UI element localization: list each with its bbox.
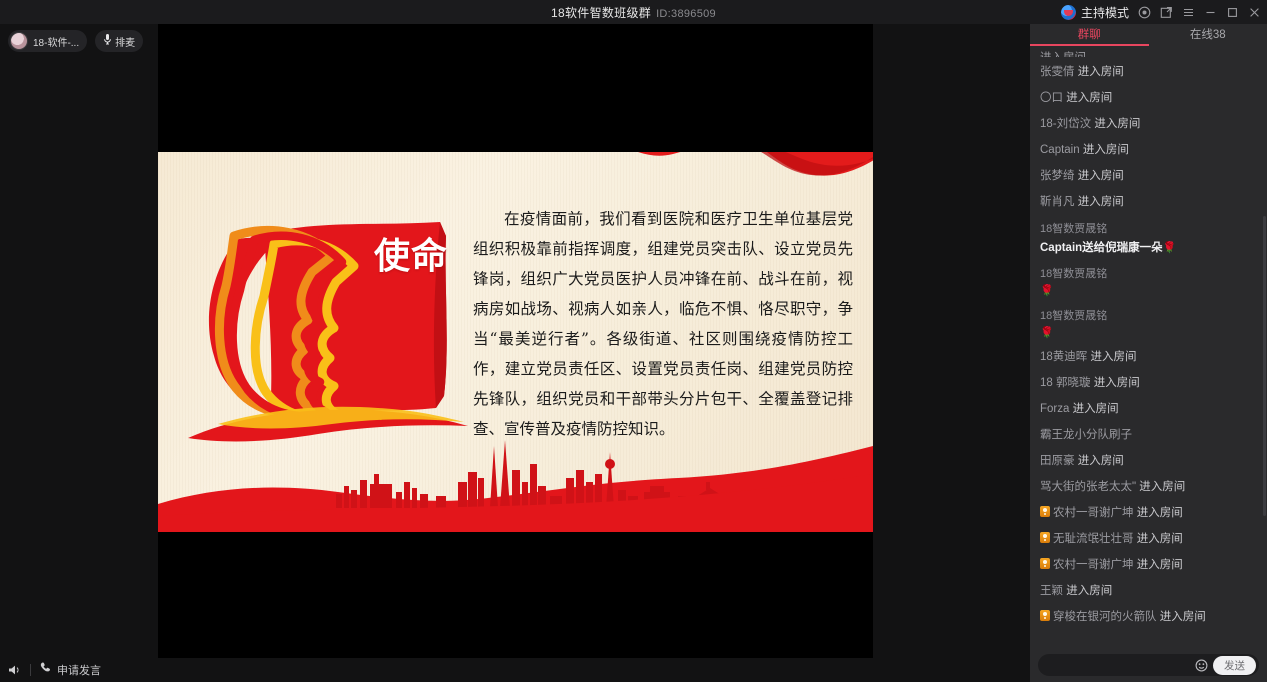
user-level-badge-icon	[1040, 558, 1050, 569]
panel-tabs: 群聊 在线38	[1030, 24, 1267, 46]
left-top-bar: 18-软件-... 排麦	[0, 24, 158, 58]
room-id: ID:3896509	[656, 8, 716, 20]
chat-message-list[interactable]: 进入房间张雯倩 进入房间〇口 进入房间18-刘岱汶 进入房间Captain 进入…	[1030, 46, 1267, 652]
maximize-icon[interactable]	[1226, 6, 1239, 19]
menu-icon[interactable]	[1182, 6, 1195, 19]
rose-icon: 🌹	[1163, 242, 1177, 254]
chat-message: Forza 进入房间	[1040, 401, 1257, 417]
tab-group-chat[interactable]: 群聊	[1030, 24, 1149, 46]
message-sender: 18智数贾晟铭	[1040, 220, 1257, 236]
chat-message: 18 郭晓璇 进入房间	[1040, 375, 1257, 391]
chat-message: 无耻流氓壮壮哥 进入房间	[1040, 531, 1257, 547]
chat-message: 农村一哥谢广坤 进入房间	[1040, 505, 1257, 521]
message-user: 王颖	[1040, 585, 1063, 597]
message-action: 进入房间	[1063, 585, 1112, 597]
avatar	[10, 32, 28, 50]
chat-message: 穿梭在银河的火箭队 进入房间	[1040, 609, 1257, 625]
chat-gift-message: 18智数贾晟铭🌹	[1040, 265, 1257, 297]
host-mode-label: 主持模式	[1081, 4, 1129, 21]
message-action: 进入房间	[1134, 507, 1183, 519]
room-title: 18软件智数班级群	[551, 6, 651, 20]
phone-icon	[39, 661, 52, 679]
popout-icon[interactable]	[1160, 6, 1173, 19]
flag-text: 使命	[374, 234, 448, 279]
gift-text: 🌹	[1040, 284, 1257, 297]
microphone-icon	[103, 32, 112, 50]
message-action: 进入房间	[1075, 196, 1124, 208]
current-user-name: 18-软件-...	[33, 34, 79, 49]
message-user: 骂大街的张老太太"	[1040, 481, 1136, 493]
message-user: 张雯倩	[1040, 66, 1075, 78]
host-mode-icon	[1061, 5, 1076, 20]
message-sender: 18智数贾晟铭	[1040, 265, 1257, 281]
chat-message: 王颖 进入房间	[1040, 583, 1257, 599]
user-level-badge-icon	[1040, 532, 1050, 543]
shared-screen-stage[interactable]: 使命	[158, 24, 873, 658]
bottom-toolbar: 申请发言	[0, 658, 1030, 682]
gift-text: 🌹	[1040, 326, 1257, 339]
message-action: 进入房间	[1069, 403, 1118, 415]
send-button[interactable]: 发送	[1213, 656, 1256, 675]
chat-message: Captain 进入房间	[1040, 142, 1257, 158]
rose-icon: 🌹	[1040, 285, 1054, 297]
message-action: 进入房间	[1087, 351, 1136, 363]
message-user: 霸王龙小分队刷子	[1040, 429, 1132, 441]
message-action: 进入房间	[1134, 559, 1183, 571]
message-action: 进入房间	[1063, 92, 1112, 104]
mic-queue-button[interactable]: 排麦	[95, 30, 143, 52]
chat-message: 张雯倩 进入房间	[1040, 64, 1257, 80]
message-action: 进入房间	[1157, 611, 1206, 623]
gift-text: Captain送给倪瑞康一朵🌹	[1040, 239, 1257, 255]
chat-message: 农村一哥谢广坤 进入房间	[1040, 557, 1257, 573]
message-user: 18黄迪晖	[1040, 351, 1087, 363]
mic-queue-label: 排麦	[115, 34, 135, 49]
message-user: 〇口	[1040, 92, 1063, 104]
message-user: 靳肖凡	[1040, 196, 1075, 208]
chat-message: 〇口 进入房间	[1040, 90, 1257, 106]
slide-body-text: 在疫情面前，我们看到医院和医疗卫生单位基层党组织积极靠前指挥调度，组建党员突击队…	[473, 204, 853, 444]
tab-online-members[interactable]: 在线38	[1149, 24, 1267, 46]
message-user: 张梦绮	[1040, 170, 1075, 182]
chat-gift-message: 18智数贾晟铭Captain送给倪瑞康一朵🌹	[1040, 220, 1257, 255]
request-speak-button[interactable]: 申请发言	[39, 661, 101, 679]
message-action: 进入房间	[1075, 170, 1124, 182]
app-window: 18软件智数班级群ID:3896509 主持模式	[0, 0, 1267, 682]
title-bar-controls: 主持模式	[1061, 0, 1261, 24]
message-action: 进入房间	[1080, 144, 1129, 156]
chat-gift-message: 18智数贾晟铭🌹	[1040, 307, 1257, 339]
request-speak-label: 申请发言	[57, 662, 101, 678]
message-user: 农村一哥谢广坤	[1053, 507, 1134, 519]
right-side-panel: 群聊 在线38 进入房间张雯倩 进入房间〇口 进入房间18-刘岱汶 进入房间Ca…	[1030, 24, 1267, 682]
message-action: 进入房间	[1075, 455, 1124, 467]
message-input[interactable]	[1048, 659, 1195, 671]
chat-message: 靳肖凡 进入房间	[1040, 194, 1257, 210]
user-level-badge-icon	[1040, 506, 1050, 517]
message-user: 田原豪	[1040, 455, 1075, 467]
chat-message-clipped: 进入房间	[1040, 50, 1257, 57]
message-action: 进入房间	[1091, 377, 1140, 389]
message-action: 进入房间	[1134, 533, 1183, 545]
message-user: Captain	[1040, 144, 1080, 156]
chat-message: 18黄迪晖 进入房间	[1040, 349, 1257, 365]
presentation-slide: 使命	[158, 152, 873, 532]
message-user: 18 郭晓璇	[1040, 377, 1091, 389]
composer-input-wrap[interactable]: 发送	[1038, 654, 1259, 676]
chat-message: 18-刘岱汶 进入房间	[1040, 116, 1257, 132]
current-user-chip[interactable]: 18-软件-...	[8, 30, 87, 52]
chat-message: 田原豪 进入房间	[1040, 453, 1257, 469]
chat-message: 霸王龙小分队刷子	[1040, 427, 1257, 443]
message-action: 进入房间	[1136, 481, 1185, 493]
message-user: 无耻流氓壮壮哥	[1053, 533, 1134, 545]
rose-icon: 🌹	[1040, 327, 1054, 339]
message-action: 进入房间	[1075, 66, 1124, 78]
minimize-icon[interactable]	[1204, 6, 1217, 19]
message-user: 农村一哥谢广坤	[1053, 559, 1134, 571]
title-bar: 18软件智数班级群ID:3896509 主持模式	[0, 0, 1267, 24]
message-composer: 发送	[1030, 652, 1267, 682]
emoji-icon[interactable]	[1195, 659, 1208, 672]
chat-message: 骂大街的张老太太" 进入房间	[1040, 479, 1257, 495]
chat-scrollbar[interactable]	[1263, 216, 1266, 516]
message-user: Forza	[1040, 403, 1069, 415]
message-sender: 18智数贾晟铭	[1040, 307, 1257, 323]
record-icon[interactable]	[1138, 6, 1151, 19]
message-user: 穿梭在银河的火箭队	[1053, 611, 1157, 623]
chat-message: 张梦绮 进入房间	[1040, 168, 1257, 184]
message-user: 18-刘岱汶	[1040, 118, 1091, 130]
host-mode-button[interactable]: 主持模式	[1061, 4, 1129, 21]
toolbar-divider	[30, 664, 31, 676]
user-level-badge-icon	[1040, 610, 1050, 621]
message-action: 进入房间	[1091, 118, 1140, 130]
close-icon[interactable]	[1248, 6, 1261, 19]
speaker-icon[interactable]	[8, 664, 22, 676]
